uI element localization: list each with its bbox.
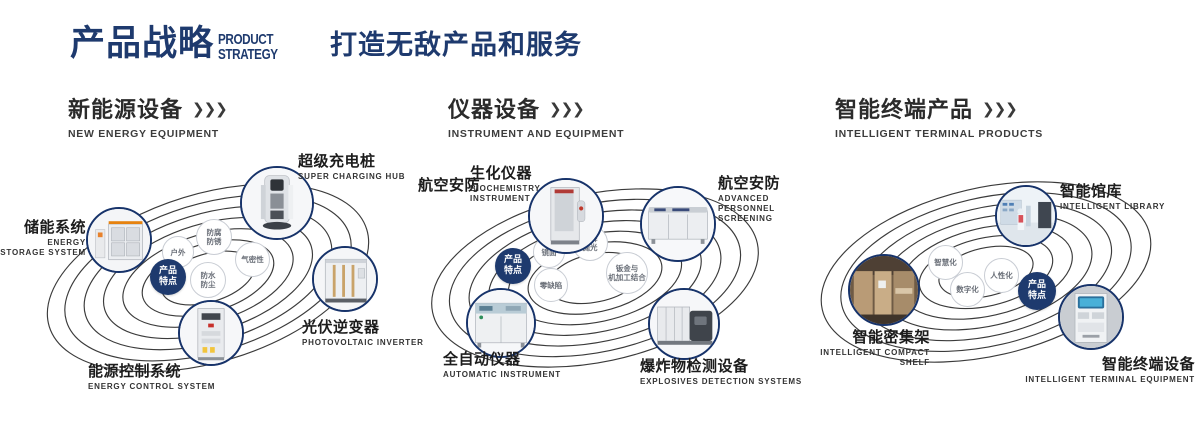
feature-bubble-anticorrosion: 防腐 防锈 [196, 219, 232, 255]
product-photo-energy-control-system[interactable] [178, 300, 244, 366]
chevron-right-icon: ❯❯❯ [982, 96, 1017, 122]
section-title-en: INTELLIGENT TERMINAL PRODUCTS [835, 128, 1043, 140]
energy-storage-photo [88, 209, 150, 271]
section-title-intelligent: 智能终端产品❯❯❯ INTELLIGENT TERMINAL PRODUCTS [835, 96, 1043, 140]
feature-bubble-airtightness: 气密性 [235, 242, 270, 277]
feature-bubble-label-line2: 机加工结合 [608, 273, 646, 282]
caption-aviation-security: 航空安防 [404, 176, 480, 194]
personnel-screening-photo [642, 188, 714, 260]
caption-photovoltaic-inverter: 光伏逆变器 PHOTOVOLTAIC INVERTER [302, 318, 424, 348]
caption-intelligent-compact-shelf: 智能密集架 INTELLIGENT COMPACT SHELF [790, 328, 930, 368]
product-features-badge-label: 产品 特点 [504, 255, 522, 277]
feature-bubble-label-line1: 钣金与 [616, 264, 639, 273]
feature-bubble-label: 钣金与 机加工结合 [608, 264, 646, 282]
caption-cn: 储能系统 [0, 218, 86, 236]
feature-bubble-label: 人性化 [990, 271, 1013, 280]
feature-bubble-label: 户外 [171, 248, 186, 257]
caption-en: SUPER CHARGING HUB [298, 172, 405, 182]
feature-bubble-label: 防水 防尘 [201, 271, 216, 289]
badge-line2: 特点 [1028, 291, 1046, 301]
caption-cn: 智能密集架 [790, 328, 930, 346]
feature-bubble-label: 防腐 防锈 [207, 228, 222, 246]
caption-automatic-instrument: 全自动仪器 AUTOMATIC INSTRUMENT [443, 350, 561, 380]
chevron-right-icon: ❯❯❯ [549, 96, 584, 122]
caption-cn: 爆炸物检测设备 [640, 357, 802, 375]
section-title-new-energy: 新能源设备❯❯❯ NEW ENERGY EQUIPMENT [68, 96, 227, 140]
product-photo-energy-storage-system[interactable] [86, 207, 152, 273]
caption-cn: 光伏逆变器 [302, 318, 424, 336]
caption-en: BIOCHEMISTRY INSTRUMENT [470, 184, 556, 204]
caption-en: PHOTOVOLTAIC INVERTER [302, 338, 424, 348]
caption-super-charging-hub: 超级充电桩 SUPER CHARGING HUB [298, 152, 405, 182]
product-photo-automatic-instrument[interactable] [466, 288, 536, 358]
feature-bubble-label: 智慧化 [934, 258, 957, 267]
caption-cn: 超级充电桩 [298, 152, 405, 170]
caption-en: INTELLIGENT COMPACT SHELF [790, 348, 930, 368]
caption-en: ENERGY STORAGE SYSTEM [0, 238, 86, 258]
caption-cn: 生化仪器 [470, 164, 556, 182]
badge-line2: 特点 [504, 266, 522, 276]
page-title: 产品战略 [70, 27, 214, 62]
section-title-cn: 仪器设备❯❯❯ [448, 96, 624, 124]
product-features-badge: 产品 特点 [495, 248, 531, 284]
badge-line1: 产品 [159, 266, 177, 276]
product-photo-intelligent-compact-shelf[interactable] [848, 254, 920, 326]
explosives-detection-photo [650, 290, 718, 358]
feature-bubble-label: 数字化 [956, 285, 979, 294]
caption-en: ENERGY CONTROL SYSTEM [88, 382, 215, 392]
section-title-cn-text: 仪器设备 [448, 98, 540, 123]
feature-bubble-label: 零缺陷 [540, 281, 563, 290]
caption-en: INTELLIGENT TERMINAL EQUIPMENT [1000, 375, 1195, 385]
product-photo-intelligent-library[interactable] [995, 185, 1057, 247]
compact-shelf-photo [850, 256, 918, 324]
product-features-badge-label: 产品 特点 [1028, 280, 1046, 302]
caption-energy-storage-system: 储能系统 ENERGY STORAGE SYSTEM [0, 218, 86, 258]
header: 产品战略 PRODUCT STRATEGY 打造无敌产品和服务 [0, 0, 1200, 92]
product-features-badge: 产品 特点 [150, 259, 186, 295]
page-title-en-line1: PRODUCT [218, 32, 278, 47]
intelligent-library-photo [997, 187, 1055, 245]
feature-bubble-label-line1: 防腐 [207, 228, 222, 237]
caption-explosives-detection-systems: 爆炸物检测设备 EXPLOSIVES DETECTION SYSTEMS [640, 357, 802, 387]
caption-energy-control-system: 能源控制系统 ENERGY CONTROL SYSTEM [88, 362, 215, 392]
product-strategy-infographic: 产品战略 PRODUCT STRATEGY 打造无敌产品和服务 新能源设备❯❯❯… [0, 0, 1200, 422]
caption-cn: 智能馆库 [1060, 182, 1165, 200]
section-title-en: NEW ENERGY EQUIPMENT [68, 128, 227, 140]
automatic-instrument-photo [468, 290, 534, 356]
caption-cn: 航空安防 [404, 176, 480, 194]
caption-en: AUTOMATIC INSTRUMENT [443, 370, 561, 380]
section-title-en: INSTRUMENT AND EQUIPMENT [448, 128, 624, 140]
caption-cn: 智能终端设备 [1000, 355, 1195, 373]
feature-bubble-label-line2: 防锈 [207, 237, 222, 246]
product-features-badge: 产品 特点 [1018, 272, 1056, 310]
section-title-instrument: 仪器设备❯❯❯ INSTRUMENT AND EQUIPMENT [448, 96, 624, 140]
feature-bubble-digital: 数字化 [950, 272, 985, 307]
chevron-right-icon: ❯❯❯ [192, 96, 227, 122]
feature-bubble-humanized: 人性化 [984, 258, 1019, 293]
product-photo-photovoltaic-inverter[interactable] [312, 246, 378, 312]
product-photo-intelligent-terminal-equipment[interactable] [1058, 284, 1124, 350]
product-photo-advanced-personnel-screening[interactable] [640, 186, 716, 262]
feature-bubble-label-line2: 防尘 [201, 280, 216, 289]
caption-en: EXPLOSIVES DETECTION SYSTEMS [640, 377, 802, 387]
caption-en: INTELLIGENT LIBRARY [1060, 202, 1165, 212]
inverter-photo [314, 248, 376, 310]
section-title-cn-text: 新能源设备 [68, 98, 183, 123]
feature-bubble-label: 气密性 [241, 255, 264, 264]
caption-biochemistry-instrument: 生化仪器 BIOCHEMISTRY INSTRUMENT [470, 164, 556, 204]
feature-bubble-label-line1: 防水 [201, 271, 216, 280]
caption-cn: 能源控制系统 [88, 362, 215, 380]
control-system-photo [180, 302, 242, 364]
product-features-badge-label: 产品 特点 [159, 266, 177, 288]
page-subtitle: 打造无敌产品和服务 [330, 32, 582, 59]
caption-cn: 全自动仪器 [443, 350, 561, 368]
product-photo-explosives-detection-systems[interactable] [648, 288, 720, 360]
section-title-cn: 新能源设备❯❯❯ [68, 96, 227, 124]
section-title-cn: 智能终端产品❯❯❯ [835, 96, 1043, 124]
caption-intelligent-terminal-equipment: 智能终端设备 INTELLIGENT TERMINAL EQUIPMENT [1000, 355, 1195, 385]
badge-line1: 产品 [504, 255, 522, 265]
badge-line2: 特点 [159, 277, 177, 287]
page-title-en-line2: STRATEGY [218, 47, 278, 62]
caption-intelligent-library: 智能馆库 INTELLIGENT LIBRARY [1060, 182, 1165, 212]
terminal-equipment-photo [1060, 286, 1122, 348]
badge-line1: 产品 [1028, 280, 1046, 290]
section-title-cn-text: 智能终端产品 [835, 98, 973, 123]
feature-bubble-zero-defect: 零缺陷 [534, 268, 568, 302]
page-title-english: PRODUCT STRATEGY [218, 32, 278, 62]
feature-bubble-waterproof: 防水 防尘 [190, 262, 226, 298]
